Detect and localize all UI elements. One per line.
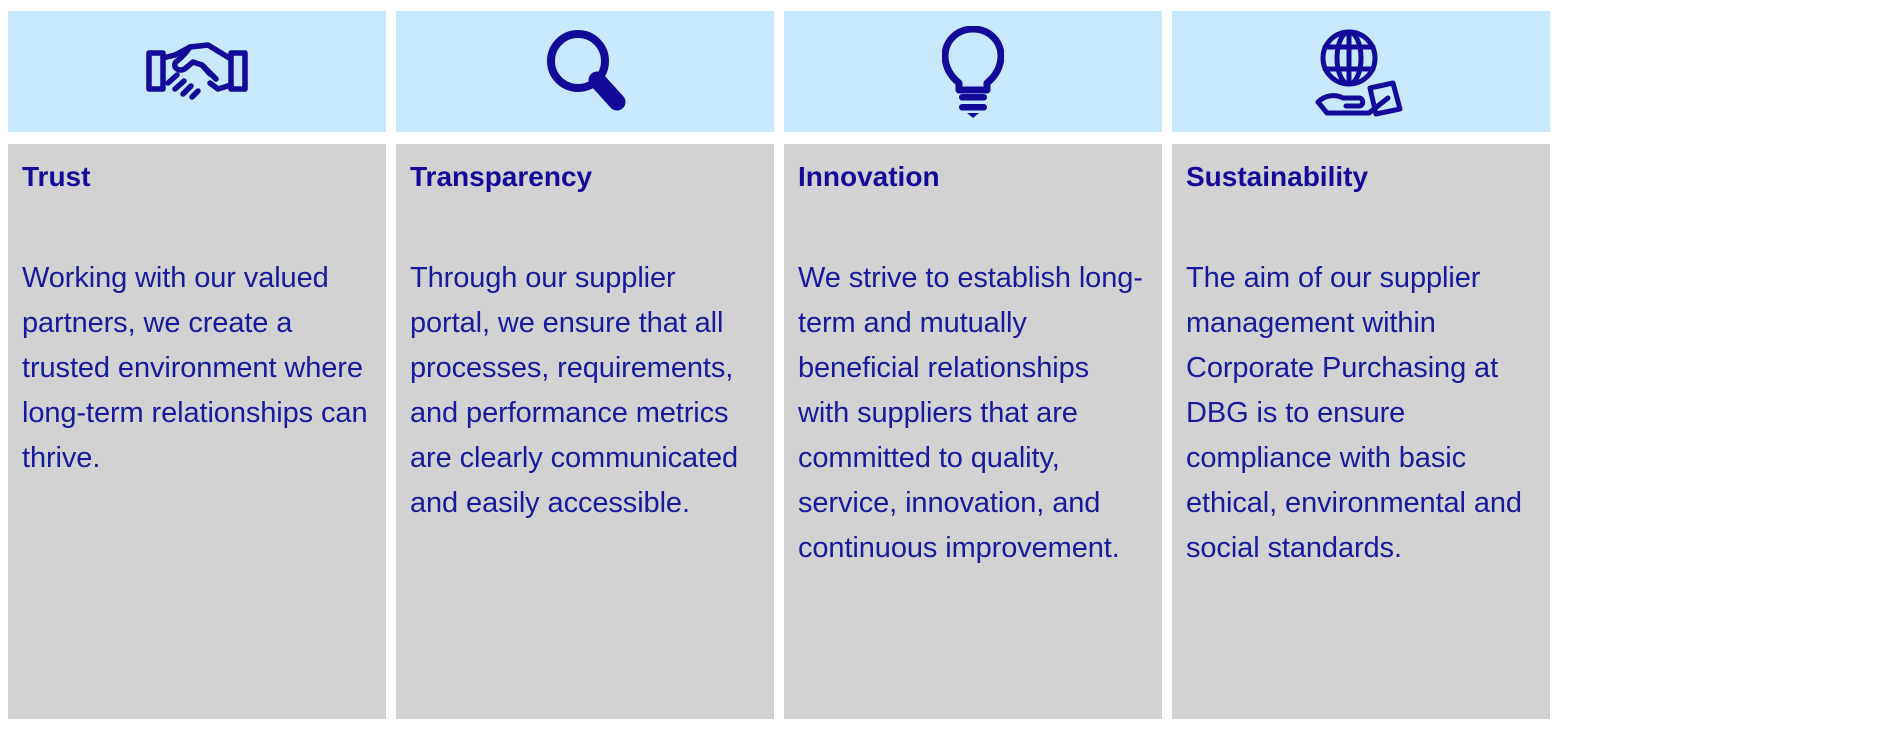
value-card-transparency: Transparency Through our supplier portal… bbox=[396, 11, 774, 719]
value-card-innovation: Innovation We strive to establish long-t… bbox=[784, 11, 1162, 719]
card-title: Transparency bbox=[410, 160, 760, 194]
value-card-sustainability: Sustainability The aim of our supplier m… bbox=[1172, 11, 1550, 719]
icon-panel-trust bbox=[8, 11, 386, 132]
handshake-icon bbox=[146, 37, 248, 107]
icon-panel-transparency bbox=[396, 11, 774, 132]
globe-in-hand-icon bbox=[1313, 26, 1409, 118]
card-body-transparency: Transparency Through our supplier portal… bbox=[396, 144, 774, 719]
card-body-trust: Trust Working with our valued partners, … bbox=[8, 144, 386, 719]
lightbulb-icon bbox=[942, 26, 1004, 118]
card-text: We strive to establish long-term and mut… bbox=[798, 256, 1148, 571]
icon-panel-sustainability bbox=[1172, 11, 1550, 132]
card-title: Sustainability bbox=[1186, 160, 1536, 194]
value-card-trust: Trust Working with our valued partners, … bbox=[8, 11, 386, 719]
card-text: Working with our valued partners, we cre… bbox=[22, 256, 372, 481]
card-text: Through our supplier portal, we ensure t… bbox=[410, 256, 760, 526]
icon-panel-innovation bbox=[784, 11, 1162, 132]
card-body-sustainability: Sustainability The aim of our supplier m… bbox=[1172, 144, 1550, 719]
card-text: The aim of our supplier management withi… bbox=[1186, 256, 1536, 571]
values-card-row: Trust Working with our valued partners, … bbox=[0, 0, 1877, 740]
magnifying-glass-icon bbox=[544, 26, 626, 118]
card-title: Trust bbox=[22, 160, 372, 194]
card-title: Innovation bbox=[798, 160, 1148, 194]
card-body-innovation: Innovation We strive to establish long-t… bbox=[784, 144, 1162, 719]
